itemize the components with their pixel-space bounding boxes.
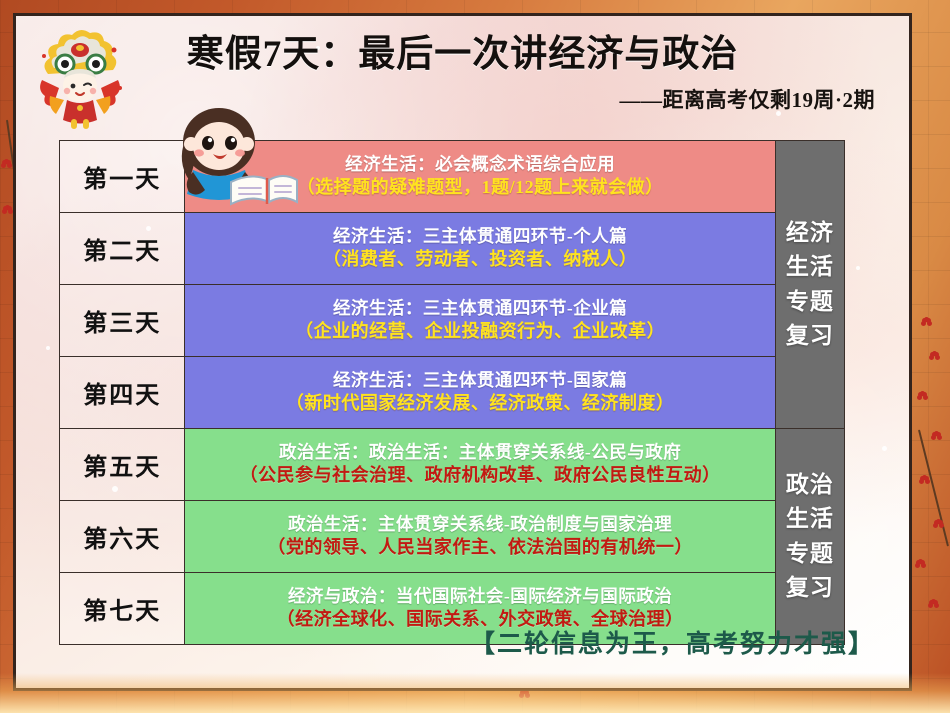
- topic-main-text: 政治生活：主体贯穿关系线-政治制度与国家治理: [185, 513, 774, 536]
- plum-blossom-icon: [916, 560, 925, 569]
- unit-label-line: 复习: [776, 571, 844, 605]
- study-plan-body: 第一天经济生活：必会概念术语综合应用（选择题的疑难题型，1题/12题上来就会做）…: [60, 141, 845, 645]
- topic-cell: 经济生活：三主体贯通四环节-企业篇（企业的经营、企业投融资行为、企业改革）: [185, 285, 775, 357]
- plum-blossom-icon: [929, 600, 938, 609]
- unit-label-line: 生活: [776, 250, 844, 284]
- page-subtitle: ——距离高考仅剩19周·2期: [16, 84, 909, 114]
- topic-sub-text: （企业的经营、企业投融资行为、企业改革）: [185, 320, 774, 344]
- topic-sub-text: （公民参与社会治理、政府机构改革、政府公民良性互动）: [185, 464, 774, 488]
- unit-label-line: 生活: [776, 502, 844, 536]
- topic-sub-text: （消费者、劳动者、投资者、纳税人）: [185, 248, 774, 272]
- monkey-reading-book-icon: [171, 96, 299, 208]
- title-block: 寒假7天：最后一次讲经济与政治 ——距离高考仅剩19周·2期: [16, 34, 909, 114]
- topic-main-text: 经济生活：三主体贯通四环节-企业篇: [185, 297, 774, 320]
- plum-blossom-icon: [918, 392, 927, 401]
- table-row: 第六天政治生活：主体贯穿关系线-政治制度与国家治理（党的领导、人民当家作主、依法…: [60, 501, 845, 573]
- topic-cell: 政治生活：政治生活：主体贯穿关系线-公民与政府（公民参与社会治理、政府机构改革、…: [185, 429, 775, 501]
- day-label-cell: 第一天: [60, 141, 185, 213]
- day-label-cell: 第七天: [60, 573, 185, 645]
- day-label-cell: 第三天: [60, 285, 185, 357]
- lion-dance-child-icon: [34, 28, 126, 132]
- study-plan-table: 第一天经济生活：必会概念术语综合应用（选择题的疑难题型，1题/12题上来就会做）…: [59, 140, 845, 645]
- topic-sub-text: （党的领导、人民当家作主、依法治国的有机统一）: [185, 536, 774, 560]
- unit-label-line: 政治: [776, 468, 844, 502]
- plum-blossom-icon: [932, 432, 941, 441]
- table-row: 第五天政治生活：政治生活：主体贯穿关系线-公民与政府（公民参与社会治理、政府机构…: [60, 429, 845, 501]
- unit-label-cell: 经济生活专题复习: [775, 141, 844, 429]
- plum-blossom-icon: [930, 352, 939, 361]
- table-row: 第四天经济生活：三主体贯通四环节-国家篇（新时代国家经济发展、经济政策、经济制度…: [60, 357, 845, 429]
- unit-label-line: 专题: [776, 285, 844, 319]
- plum-blossom-icon: [922, 318, 931, 327]
- unit-label-line: 复习: [776, 319, 844, 353]
- unit-label-line: 经济: [776, 216, 844, 250]
- unit-label-cell: 政治生活专题复习: [775, 429, 844, 645]
- day-label-cell: 第六天: [60, 501, 185, 573]
- plum-blossom-icon: [920, 476, 929, 485]
- topic-cell: 政治生活：主体贯穿关系线-政治制度与国家治理（党的领导、人民当家作主、依法治国的…: [185, 501, 775, 573]
- topic-main-text: 经济与政治：当代国际社会-国际经济与国际政治: [185, 585, 774, 608]
- topic-sub-text: （新时代国家经济发展、经济政策、经济制度）: [185, 392, 774, 416]
- day-label-cell: 第四天: [60, 357, 185, 429]
- plum-blossom-icon: [934, 520, 943, 529]
- topic-main-text: 经济生活：三主体贯通四环节-个人篇: [185, 225, 774, 248]
- unit-label-line: 专题: [776, 537, 844, 571]
- slide-canvas: 寒假7天：最后一次讲经济与政治 ——距离高考仅剩19周·2期 第一天经济生活：必…: [0, 0, 950, 713]
- day-label-cell: 第二天: [60, 213, 185, 285]
- topic-main-text: 经济生活：三主体贯通四环节-国家篇: [185, 369, 774, 392]
- snowflake-icon: [856, 266, 860, 270]
- slide-frame: 寒假7天：最后一次讲经济与政治 ——距离高考仅剩19周·2期 第一天经济生活：必…: [13, 13, 912, 691]
- table-row: 第三天经济生活：三主体贯通四环节-企业篇（企业的经营、企业投融资行为、企业改革）: [60, 285, 845, 357]
- topic-cell: 经济生活：三主体贯通四环节-国家篇（新时代国家经济发展、经济政策、经济制度）: [185, 357, 775, 429]
- footer-slogan: 【二轮信息为王，高考努力才强】: [470, 624, 875, 660]
- plum-branch: [918, 430, 949, 547]
- topic-main-text: 政治生活：政治生活：主体贯穿关系线-公民与政府: [185, 441, 774, 464]
- day-label-cell: 第五天: [60, 429, 185, 501]
- page-title: 寒假7天：最后一次讲经济与政治: [16, 34, 909, 75]
- plum-blossom-icon: [520, 690, 529, 699]
- plum-blossom-icon: [2, 160, 11, 169]
- plum-blossom-icon: [3, 206, 12, 215]
- snowflake-icon: [882, 446, 887, 451]
- topic-cell: 经济生活：三主体贯通四环节-个人篇（消费者、劳动者、投资者、纳税人）: [185, 213, 775, 285]
- snowflake-icon: [46, 346, 50, 350]
- table-row: 第二天经济生活：三主体贯通四环节-个人篇（消费者、劳动者、投资者、纳税人）: [60, 213, 845, 285]
